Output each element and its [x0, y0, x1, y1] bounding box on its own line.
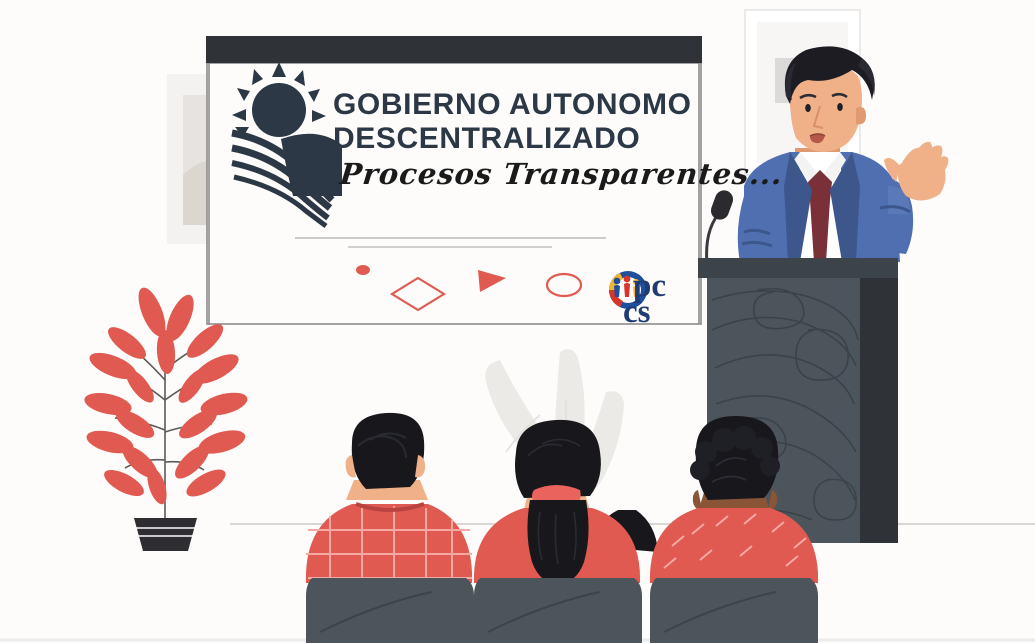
- podium-top: [698, 258, 898, 278]
- slide-title-line-2: DESCENTRALIZADO: [333, 122, 640, 156]
- slide-title-line-1: GOBIERNO AUTONOMO: [333, 88, 692, 122]
- dot-shape: [356, 265, 370, 275]
- podium-side: [860, 278, 898, 543]
- hair: [352, 413, 424, 489]
- chair: [650, 578, 818, 643]
- plant-pot: [134, 518, 197, 551]
- chair: [306, 578, 474, 643]
- sun-disc: [252, 83, 306, 137]
- slide-tagline: Procesos Transparentes...: [338, 157, 785, 191]
- svg-text:cs: cs: [623, 294, 651, 330]
- chair: [474, 578, 642, 643]
- screen-top-bar: [206, 36, 702, 63]
- ponytail: [527, 500, 588, 583]
- presentation-illustration: pc cs: [0, 0, 1035, 643]
